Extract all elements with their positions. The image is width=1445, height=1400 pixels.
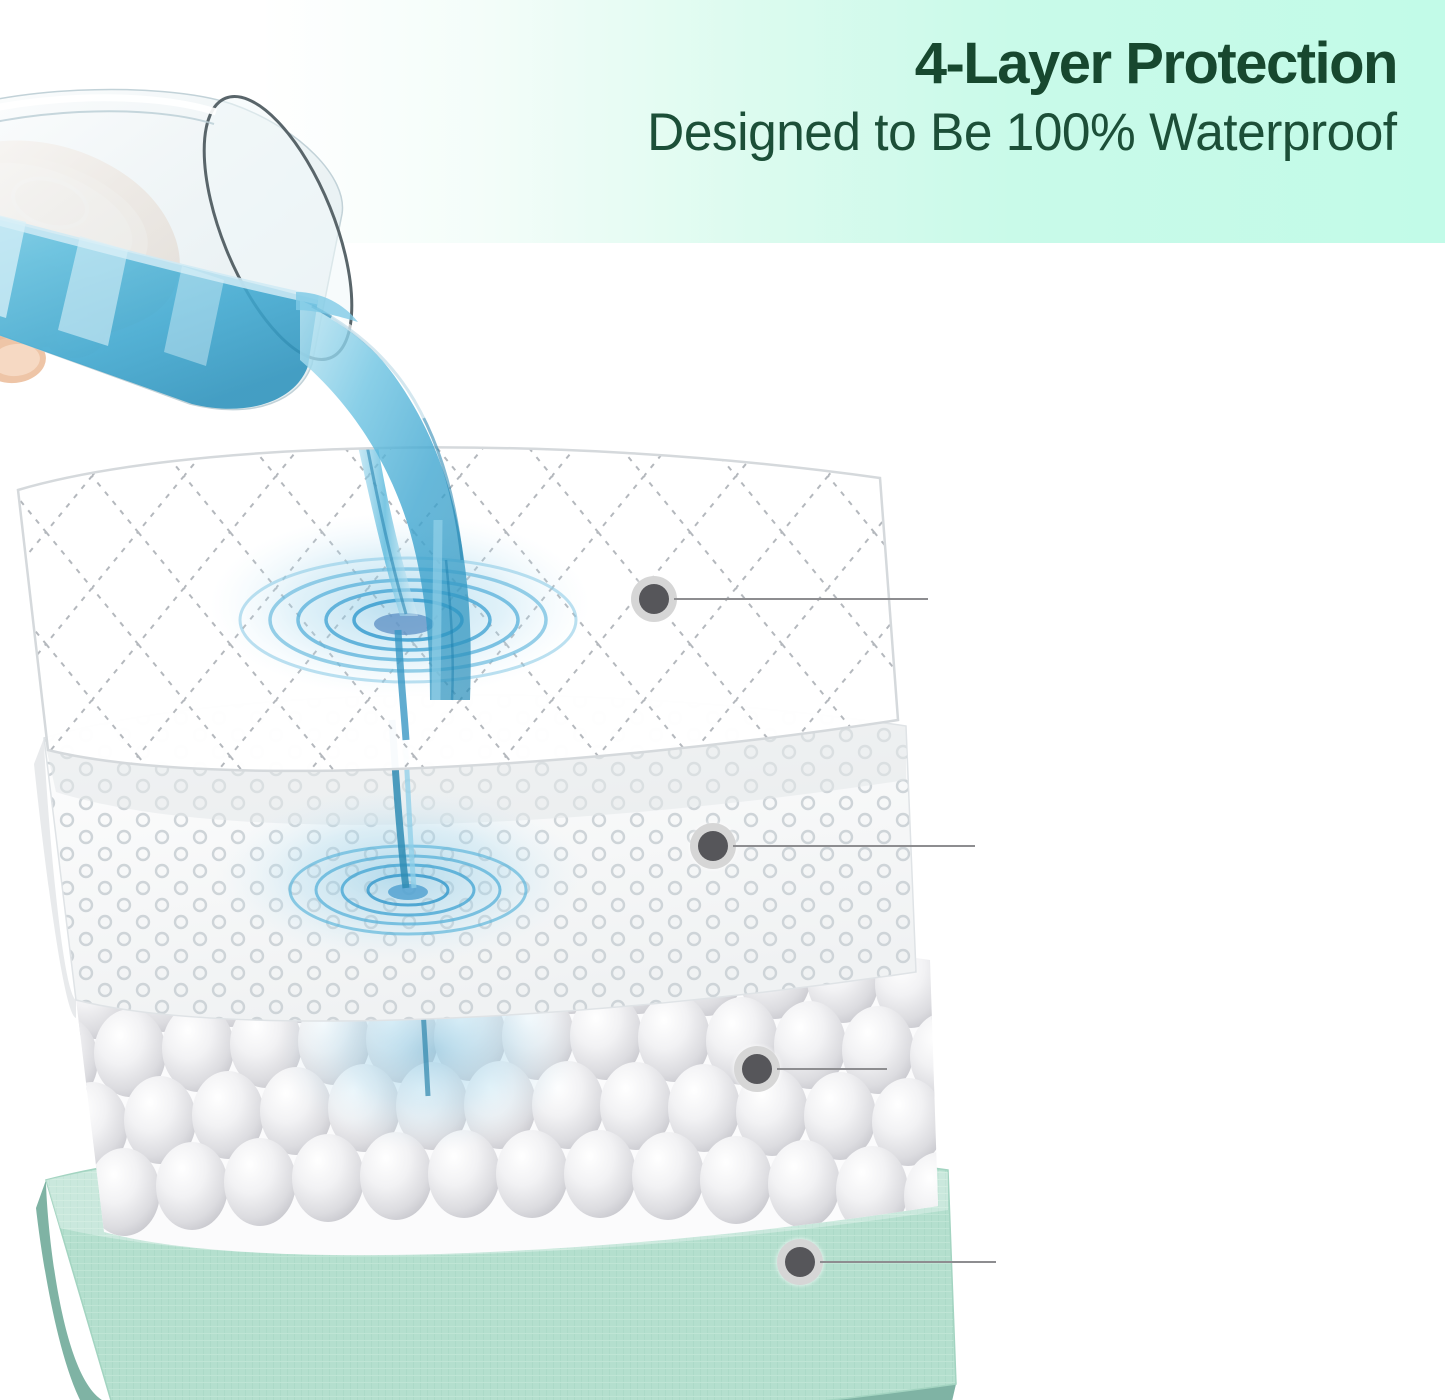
callout-marker-dot-icon[interactable] xyxy=(777,1239,823,1285)
pouring-water-stream-icon xyxy=(296,292,471,700)
callout-marker-dot-icon[interactable] xyxy=(734,1046,780,1092)
leader-line xyxy=(733,845,975,847)
pouring-water-illustration xyxy=(0,0,760,740)
leader-line xyxy=(820,1261,996,1263)
callout-marker-dot-icon[interactable] xyxy=(690,823,736,869)
callout-marker-dot-icon[interactable] xyxy=(631,576,677,622)
leader-line xyxy=(674,598,928,600)
leader-line xyxy=(777,1068,887,1070)
